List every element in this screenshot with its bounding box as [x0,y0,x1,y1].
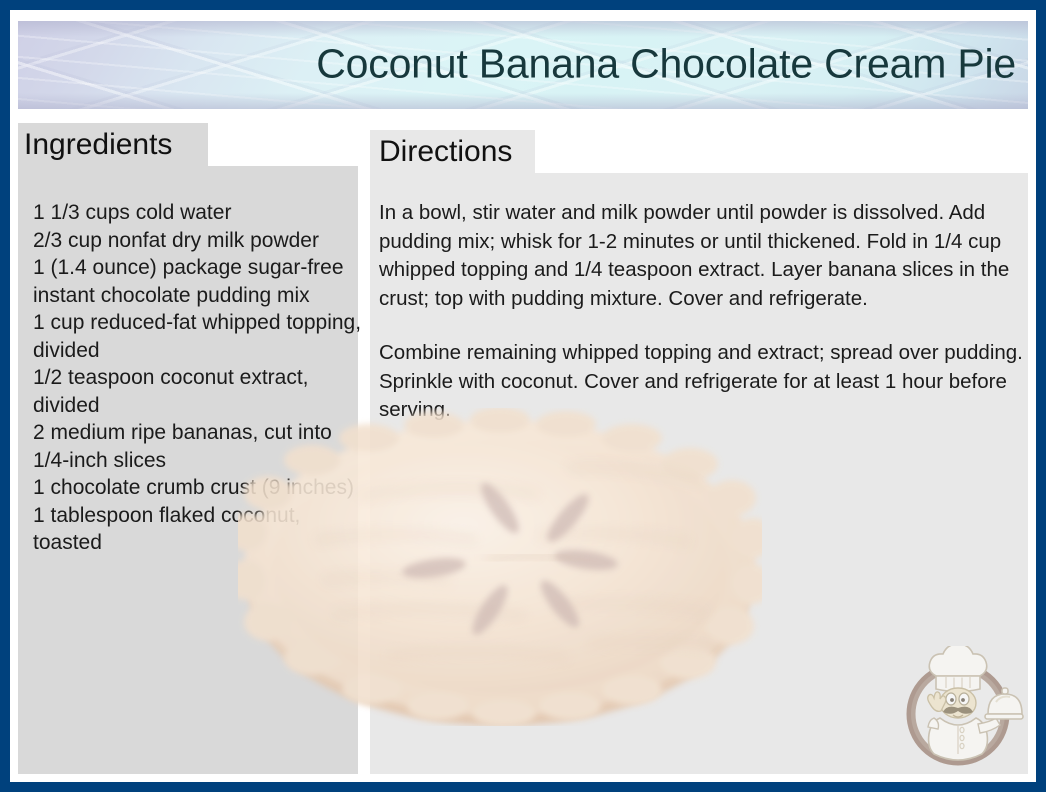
ingredient-item: 2/3 cup nonfat dry milk powder [33,227,365,255]
direction-paragraph: In a bowl, stir water and milk powder un… [379,199,1024,313]
ingredient-item: 1 chocolate crumb crust (9 inches) [33,474,365,502]
ingredients-heading: Ingredients [24,124,172,166]
ingredients-header-tab: Ingredients [18,123,208,166]
ingredient-item: 1 cup reduced-fat whipped topping, divid… [33,309,365,364]
direction-paragraph: Combine remaining whipped topping and ex… [379,339,1024,425]
directions-heading: Directions [379,131,512,173]
recipe-title: Coconut Banana Chocolate Cream Pie [316,44,1016,85]
ingredient-item: 1/2 teaspoon coconut extract, divided [33,364,365,419]
banner-top-shading [18,21,1028,37]
recipe-page: Coconut Banana Chocolate Cream Pie Ingre… [10,10,1036,782]
directions-header-tab: Directions [370,130,535,173]
ingredients-list: 1 1/3 cups cold water2/3 cup nonfat dry … [33,199,365,557]
ingredients-panel-body: 1 1/3 cups cold water2/3 cup nonfat dry … [18,166,358,774]
chef-with-cloche-logo [896,646,1028,768]
ingredient-item: 2 medium ripe bananas, cut into 1/4-inch… [33,419,365,474]
directions-text: In a bowl, stir water and milk powder un… [379,199,1024,425]
ingredient-item: 1 tablespoon flaked coconut, toasted [33,502,365,557]
ingredient-item: 1 (1.4 ounce) package sugar-free instant… [33,254,365,309]
recipe-card: Coconut Banana Chocolate Cream Pie Ingre… [0,0,1046,792]
title-banner: Coconut Banana Chocolate Cream Pie [18,21,1028,109]
banner-bottom-shading [18,93,1028,109]
ingredient-item: 1 1/3 cups cold water [33,199,365,227]
